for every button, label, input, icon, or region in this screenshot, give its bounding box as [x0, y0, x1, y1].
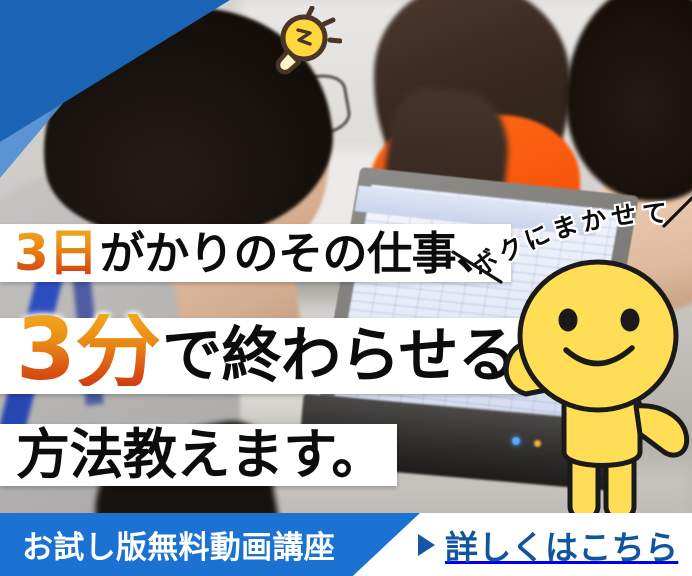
promo-banner: 3日 がかりのその仕事、 3分 で終わらせる 方法教えます。 ボ ク に ま か… — [0, 0, 692, 576]
mascot-left-eye — [559, 309, 578, 332]
headline-2-highlight: 3分 — [16, 314, 160, 386]
mascot-right-eye — [621, 309, 640, 332]
footer-bar: お試し版無料動画講座 詳しくはこちら — [0, 513, 692, 576]
headline-1-highlight: 3日 — [14, 228, 98, 278]
headline-band-3: 方法教えます。 — [0, 424, 397, 486]
yellow-mascot-icon — [494, 238, 692, 530]
lightbulb-icon — [262, 6, 342, 80]
corner-triangle-dark-icon — [0, 0, 230, 142]
headline-3-text: 方法教えます。 — [16, 428, 385, 482]
footer-cta-button[interactable]: 詳しくはこちら — [418, 513, 678, 576]
play-triangle-icon — [418, 534, 435, 556]
footer-offer-label: お試し版無料動画講座 — [22, 513, 335, 576]
headline-1-text: がかりのその仕事、 — [100, 231, 501, 276]
footer-cta-label: 詳しくはこちら — [445, 521, 678, 569]
headline-band-2: 3分 で終わらせる — [0, 318, 527, 394]
headline-2-text: で終わらせる — [162, 326, 517, 386]
speech-tail-line-icon — [660, 196, 692, 230]
headline-band-1: 3日 がかりのその仕事、 — [0, 224, 511, 282]
